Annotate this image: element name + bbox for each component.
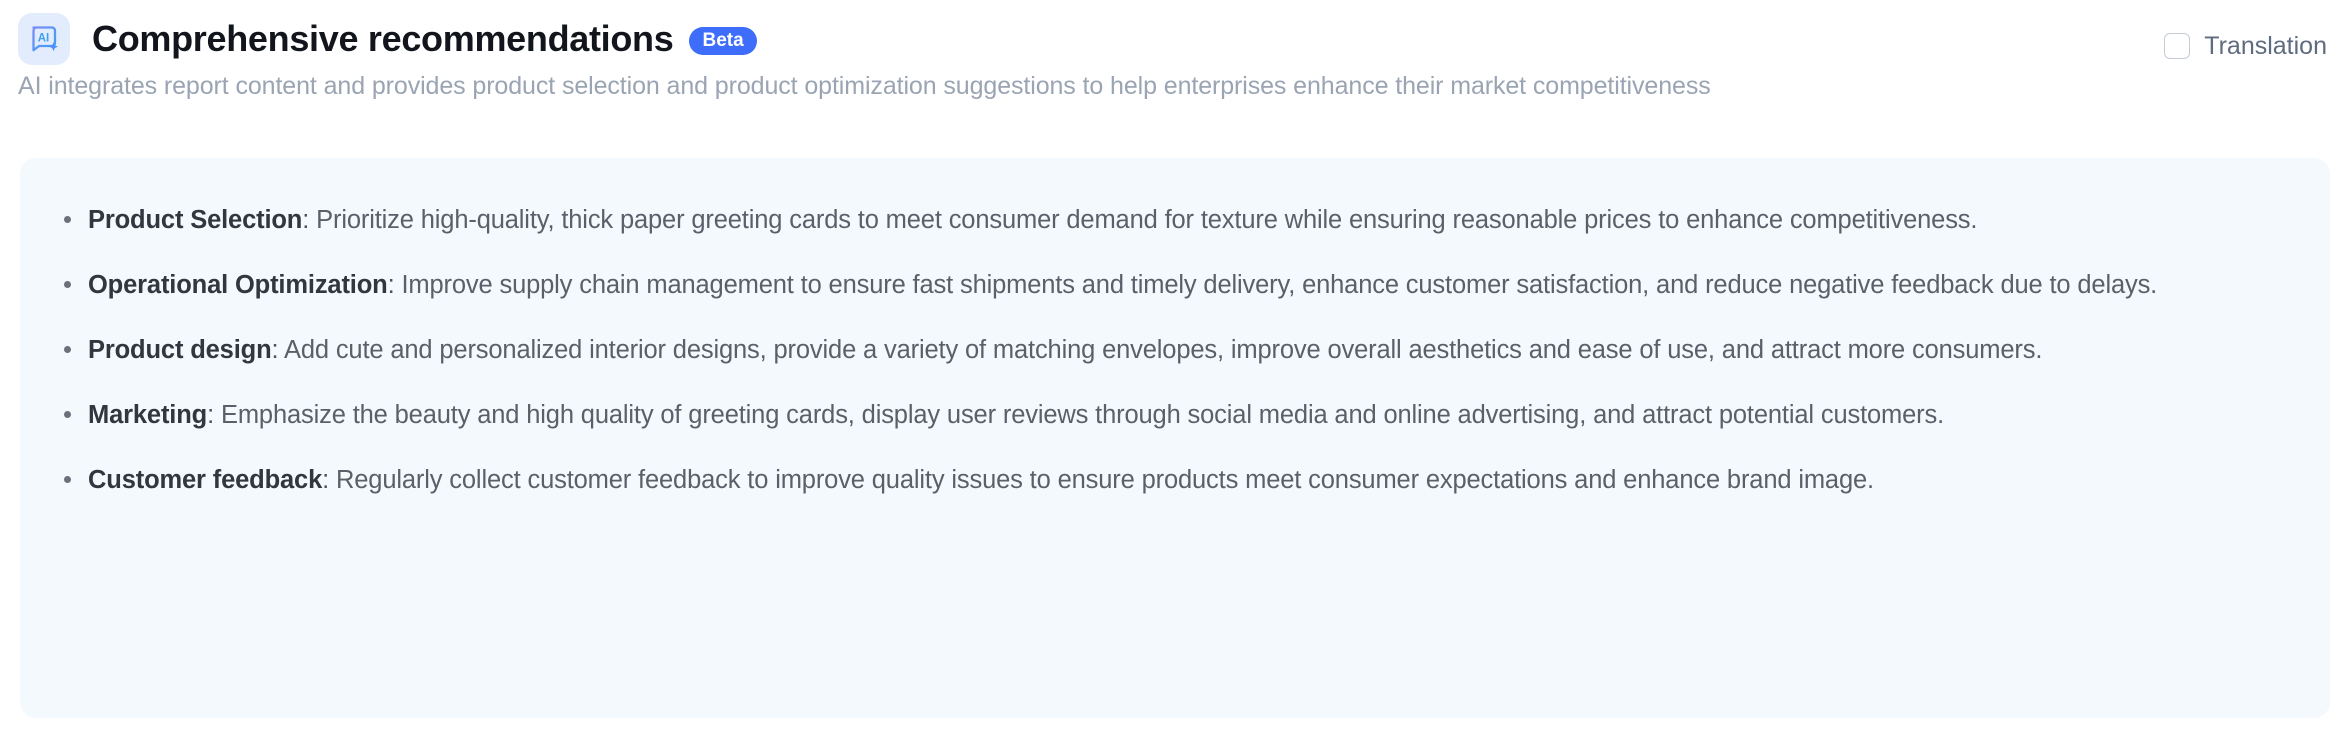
list-item: Operational Optimization: Improve supply… (60, 267, 2290, 304)
list-item: Marketing: Emphasize the beauty and high… (60, 397, 2290, 434)
recommendations-list: Product Selection: Prioritize high-quali… (60, 202, 2290, 499)
recommendation-separator: : (388, 271, 402, 299)
recommendation-description: Prioritize high-quality, thick paper gre… (316, 206, 1977, 234)
recommendation-term: Product Selection (88, 206, 302, 234)
list-item: Product design: Add cute and personalize… (60, 332, 2290, 369)
panel-header: AI Comprehensive recommendations Beta Tr… (0, 0, 2349, 60)
recommendation-separator: : (302, 206, 316, 234)
recommendation-separator: : (322, 466, 336, 494)
recommendation-description: Improve supply chain management to ensur… (401, 271, 2157, 299)
recommendation-term: Marketing (88, 401, 207, 429)
recommendation-term: Customer feedback (88, 466, 322, 494)
beta-badge: Beta (689, 27, 756, 55)
recommendation-description: Emphasize the beauty and high quality of… (221, 401, 1944, 429)
recommendation-term: Operational Optimization (88, 271, 388, 299)
translation-checkbox[interactable] (2164, 33, 2190, 59)
list-item: Product Selection: Prioritize high-quali… (60, 202, 2290, 239)
recommendations-card: Product Selection: Prioritize high-quali… (20, 158, 2330, 718)
panel-subtitle: AI integrates report content and provide… (0, 60, 2349, 101)
list-item: Customer feedback: Regularly collect cus… (60, 462, 2290, 499)
recommendation-description: Add cute and personalized interior desig… (284, 336, 2042, 364)
recommendation-separator: : (207, 401, 221, 429)
svg-text:AI: AI (38, 32, 50, 44)
recommendation-term: Product design (88, 336, 272, 364)
comprehensive-recommendations-panel: AI Comprehensive recommendations Beta Tr… (0, 0, 2349, 731)
ai-translate-icon: AI (18, 13, 70, 65)
translation-toggle[interactable]: Translation (2164, 32, 2327, 61)
page-title: Comprehensive recommendations (92, 18, 673, 60)
translation-label: Translation (2204, 32, 2327, 61)
recommendation-description: Regularly collect customer feedback to i… (336, 466, 1874, 494)
recommendation-separator: : (272, 336, 284, 364)
